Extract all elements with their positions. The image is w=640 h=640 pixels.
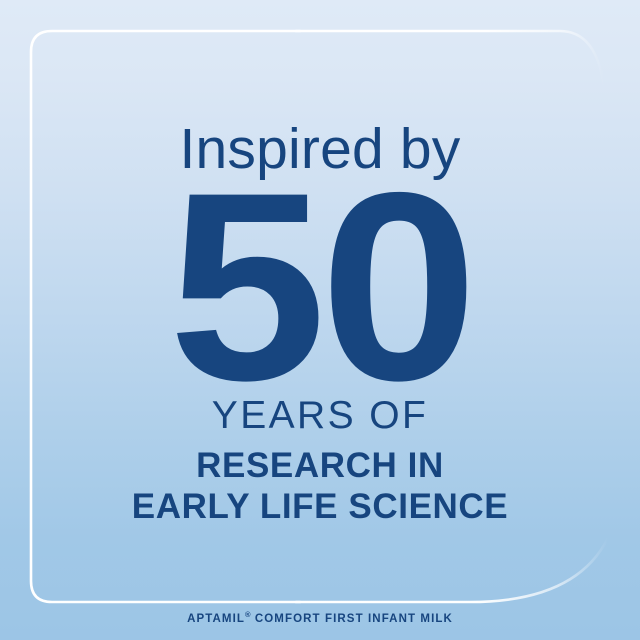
product-caption: APTAMIL® COMFORT FIRST INFANT MILK xyxy=(0,611,640,625)
subject-line-1: RESEARCH IN xyxy=(0,446,640,487)
product-name: COMFORT FIRST INFANT MILK xyxy=(251,613,453,625)
subject-line-2: EARLY LIFE SCIENCE xyxy=(0,487,640,528)
brand-name: APTAMIL xyxy=(187,613,245,625)
anniversary-number: 50 xyxy=(0,152,640,420)
headline-stack: Inspired by 50 YEARS OF RESEARCH IN EARL… xyxy=(0,0,640,640)
promo-card: Inspired by 50 YEARS OF RESEARCH IN EARL… xyxy=(0,0,640,640)
subject-lines: RESEARCH IN EARLY LIFE SCIENCE xyxy=(0,446,640,527)
years-label: YEARS OF xyxy=(0,396,640,435)
